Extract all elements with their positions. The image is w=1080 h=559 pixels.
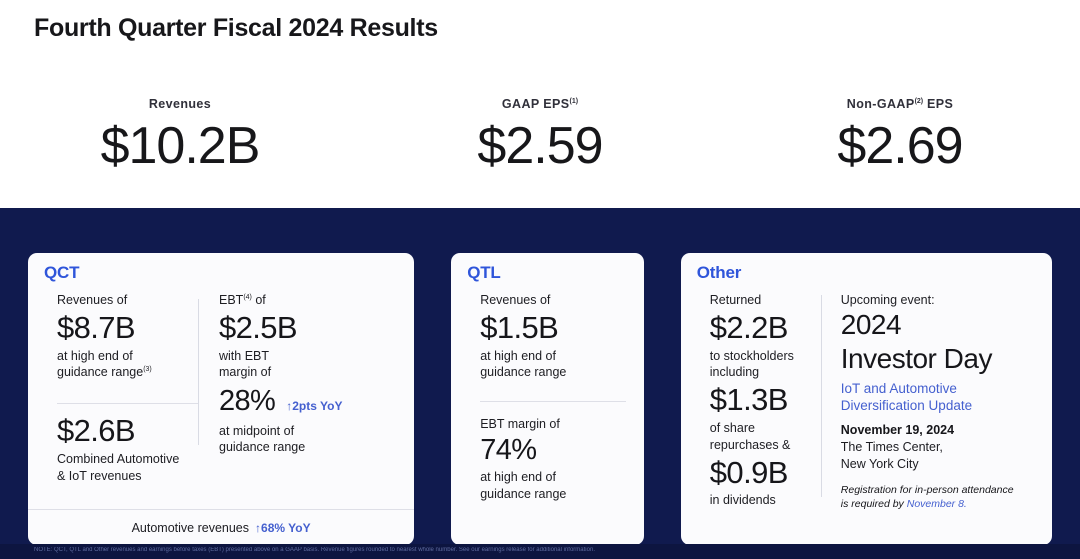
qct-ebt-value: $2.5B [219, 310, 384, 346]
qtl-ebt-value: 74% [480, 434, 626, 467]
registration-line-2: is required by [841, 498, 907, 510]
other-dividend-note: in dividends [710, 492, 821, 509]
card-qtl-title: QTL [451, 253, 644, 281]
card-qtl: QTL Revenues of $1.5B at high end of gui… [451, 253, 644, 545]
card-other-right-column: Upcoming event: 2024 Investor Day IoT an… [822, 281, 1022, 511]
qtl-revenues-note-line1: at high end of [480, 348, 626, 365]
kpi-non-gaap-eps: Non-GAAP(2) EPS $2.69 [720, 98, 1080, 173]
other-repurchase-value: $1.3B [710, 382, 821, 418]
footnote-ref-2: (2) [915, 98, 924, 105]
card-other: Other Returned $2.2B to stockholders inc… [681, 253, 1052, 545]
other-event-subtitle-line2: Diversification Update [841, 397, 1022, 415]
card-other-body: Returned $2.2B to stockholders including… [681, 281, 1052, 511]
card-other-left-column: Returned $2.2B to stockholders including… [681, 281, 821, 511]
qct-footer: Automotive revenues ↑68% YoY [28, 509, 414, 545]
footnote-ref-4: (4) [243, 294, 252, 301]
registration-deadline: November 8. [907, 498, 967, 510]
other-returned-note-line2: including [710, 364, 821, 381]
kpi-revenues: Revenues $10.2B [0, 98, 360, 173]
qct-ebt-label: EBT(4) of [219, 292, 384, 309]
footnote-ref-3: (3) [143, 366, 152, 373]
qtl-ebt-label: EBT margin of [480, 416, 626, 433]
qtl-ebt-note-line2: guidance range [480, 486, 626, 503]
qct-footer-label: Automotive revenues [132, 521, 249, 535]
other-event-city: New York City [841, 456, 1022, 473]
kpi-gaap-eps-label: GAAP EPS(1) [360, 98, 720, 111]
qct-left-divider [57, 403, 198, 404]
results-header-panel: Fourth Quarter Fiscal 2024 Results Reven… [0, 0, 1080, 208]
kpi-revenues-value: $10.2B [0, 119, 360, 174]
card-qtl-body: Revenues of $1.5B at high end of guidanc… [451, 281, 644, 503]
qtl-revenues-note-line2: guidance range [480, 364, 626, 381]
other-repurchase-note-line1: of share [710, 420, 821, 437]
other-returned-note-line1: to stockholders [710, 348, 821, 365]
qtl-divider [480, 401, 626, 402]
other-returned-label: Returned [710, 292, 821, 309]
card-qct-left-column: Revenues of $8.7B at high end of guidanc… [28, 281, 198, 485]
qct-combined-note-line2: & IoT revenues [57, 468, 198, 485]
card-qct-body: Revenues of $8.7B at high end of guidanc… [28, 281, 414, 485]
card-qct-right-column: EBT(4) of $2.5B with EBT margin of 28% ↑… [199, 281, 384, 485]
qct-margin-note-line1: at midpoint of [219, 423, 384, 440]
other-event-date: November 19, 2024 [841, 422, 1022, 439]
other-registration-note: Registration for in-person attendance is… [841, 483, 1022, 511]
kpi-non-gaap-eps-value: $2.69 [720, 119, 1080, 174]
other-event-subtitle-line1: IoT and Automotive [841, 380, 1022, 398]
qct-combined-note-line1: Combined Automotive [57, 451, 198, 468]
other-event-label: Upcoming event: [841, 292, 1022, 308]
kpi-non-gaap-eps-label: Non-GAAP(2) EPS [720, 98, 1080, 111]
card-qct: QCT Revenues of $8.7B at high end of gui… [28, 253, 414, 545]
qct-ebt-note-line2: margin of [219, 364, 384, 381]
qct-revenues-value: $8.7B [57, 310, 198, 346]
segment-cards: QCT Revenues of $8.7B at high end of gui… [28, 253, 1052, 545]
qct-margin-yoy-badge: ↑2pts YoY [286, 399, 342, 413]
other-event-name: Investor Day [841, 342, 1022, 376]
other-returned-value: $2.2B [710, 310, 821, 346]
footnote-text: NOTE: QCT, QTL and Other revenues and ea… [34, 547, 595, 553]
page-title: Fourth Quarter Fiscal 2024 Results [34, 14, 438, 43]
qct-margin-value: 28% [219, 385, 275, 418]
kpi-revenues-label: Revenues [0, 98, 360, 111]
qct-revenues-label: Revenues of [57, 292, 198, 309]
qct-revenues-note-line1: at high end of [57, 348, 198, 365]
kpi-row: Revenues $10.2B GAAP EPS(1) $2.59 Non-GA… [0, 98, 1080, 173]
registration-line-1: Registration for in-person attendance [841, 484, 1014, 496]
other-repurchase-note-line2: repurchases & [710, 437, 821, 454]
other-event-venue: The Times Center, [841, 439, 1022, 456]
qct-footer-yoy-badge: ↑68% YoY [255, 521, 311, 535]
qct-margin-note-line2: guidance range [219, 439, 384, 456]
other-dividend-value: $0.9B [710, 455, 821, 491]
qtl-revenues-value: $1.5B [480, 310, 626, 346]
qct-margin-row: 28% ↑2pts YoY [219, 385, 384, 418]
other-event-year: 2024 [841, 308, 1022, 342]
footnote-strip: NOTE: QCT, QTL and Other revenues and ea… [0, 544, 1080, 559]
card-qct-title: QCT [28, 253, 414, 281]
card-other-title: Other [681, 253, 1052, 281]
footnote-ref-1: (1) [570, 98, 579, 105]
qtl-revenues-label: Revenues of [480, 292, 626, 309]
qct-combined-value: $2.6B [57, 413, 198, 449]
kpi-gaap-eps: GAAP EPS(1) $2.59 [360, 98, 720, 173]
qct-ebt-note-line1: with EBT [219, 348, 384, 365]
qtl-ebt-note-line1: at high end of [480, 469, 626, 486]
qct-revenues-note-line2: guidance range(3) [57, 364, 198, 381]
kpi-gaap-eps-value: $2.59 [360, 119, 720, 174]
